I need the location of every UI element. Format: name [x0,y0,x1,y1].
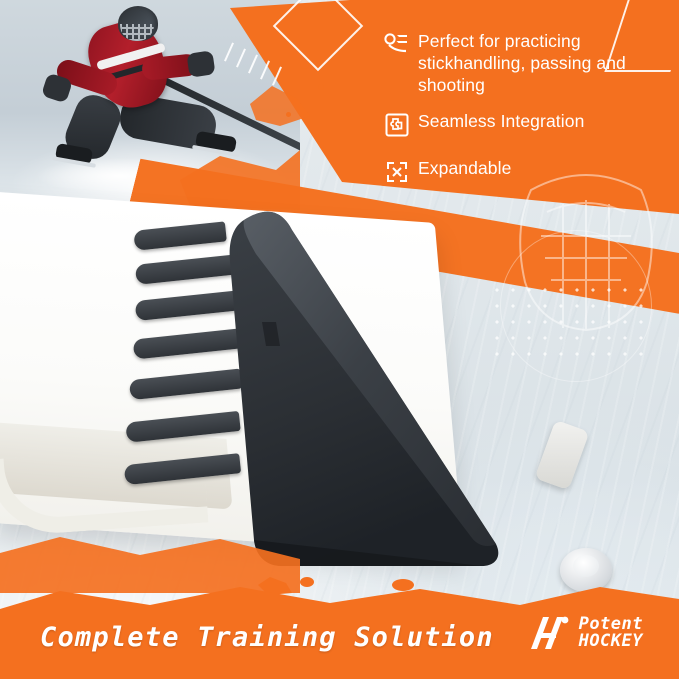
expand-arrows-icon [384,157,418,190]
hockey-stick-puck-icon [384,30,418,63]
orange-splatter [392,579,414,591]
product-banner: Perfect for practicing stickhandling, pa… [0,0,679,679]
feature-item: Expandable [384,157,660,190]
feature-label: Expandable [418,157,511,179]
feature-item: Seamless Integration [384,110,660,143]
feature-label: Seamless Integration [418,110,584,132]
brand-wordmark: Potent HOCKEY [579,616,643,650]
banner-headline: Complete Training Solution [40,622,494,653]
orange-dot [318,84,324,90]
speed-lines-decoration [228,42,288,92]
potent-hockey-logo-mark [527,613,571,653]
brand-logo: Potent HOCKEY [527,613,643,653]
orange-dot [286,112,291,117]
orange-splatter [300,577,314,587]
brand-name-line2: HOCKEY [579,633,643,650]
feature-item: Perfect for practicing stickhandling, pa… [384,30,660,96]
puzzle-piece-icon [384,110,418,143]
feature-label: Perfect for practicing stickhandling, pa… [418,30,660,96]
black-ramp-trainer [196,196,679,586]
practice-puck [560,548,612,592]
glove-right [186,50,215,77]
feature-list: Perfect for practicing stickhandling, pa… [384,30,660,204]
